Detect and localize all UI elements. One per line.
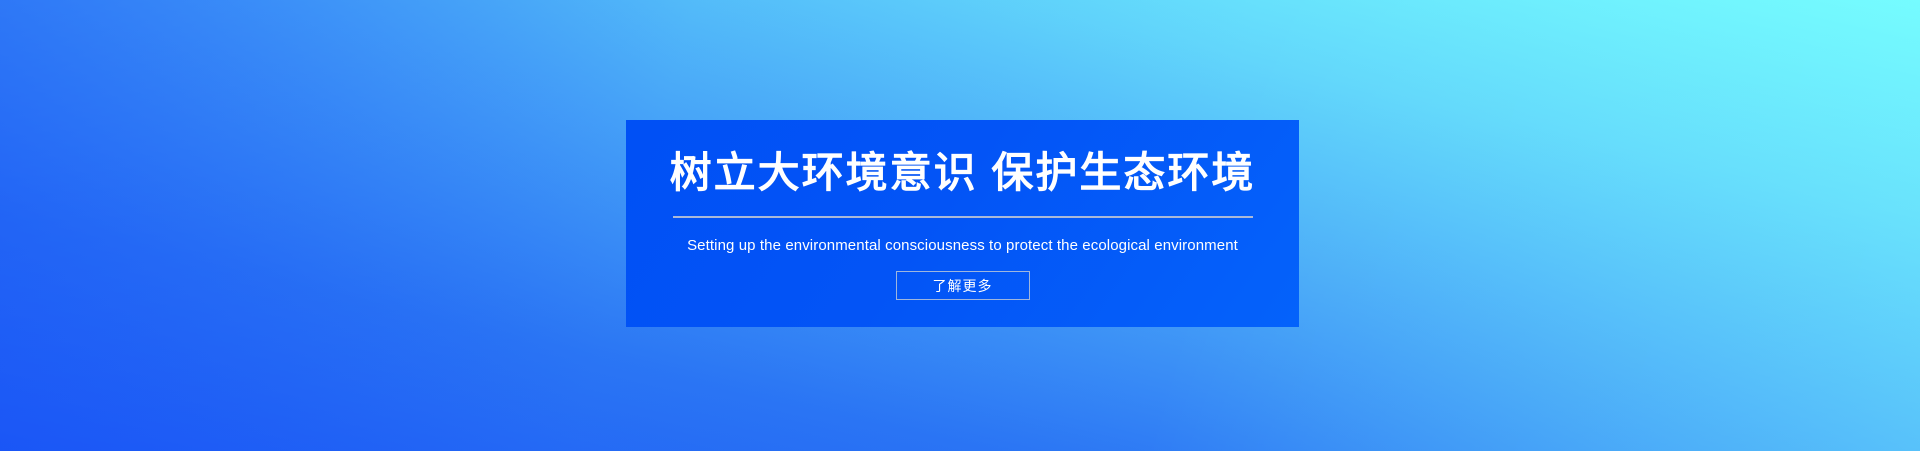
hero-content-panel: 树立大环境意识 保护生态环境 Setting up the environmen… xyxy=(626,120,1299,327)
hero-banner: 树立大环境意识 保护生态环境 Setting up the environmen… xyxy=(0,0,1920,451)
learn-more-button[interactable]: 了解更多 xyxy=(896,271,1030,300)
title-divider xyxy=(673,216,1253,218)
page-title: 树立大环境意识 保护生态环境 xyxy=(670,152,1256,194)
subtitle-text: Setting up the environmental consciousne… xyxy=(687,238,1238,253)
